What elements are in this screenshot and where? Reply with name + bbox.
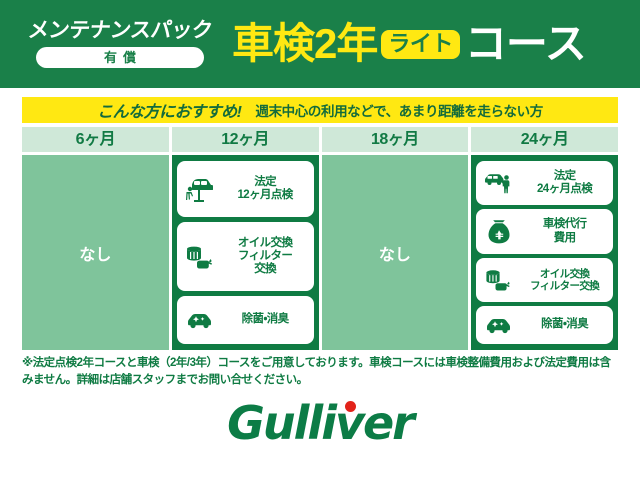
column-18-months: 18ヶ月 なし	[322, 127, 469, 350]
paid-badge: 有償	[36, 47, 204, 68]
service-card-label: 除菌・消臭	[221, 313, 310, 326]
none-label: なし	[379, 241, 411, 265]
column-6-months: 6ヶ月 なし	[22, 127, 169, 350]
service-card-label: 法定 24ヶ月点検	[520, 170, 609, 196]
maintenance-pack-title: メンテナンスパック	[27, 20, 214, 42]
column-header-6: 6ヶ月	[22, 127, 169, 152]
column-header-label: 12ヶ月	[221, 132, 269, 148]
recommend-section: こんな方におすすめ! 週末中心の利用などで、あまり距離を走らない方	[0, 88, 640, 123]
column-header-label: 24ヶ月	[521, 132, 569, 148]
service-card: オイル交換 フィルター交換	[476, 258, 613, 302]
gulliver-logo-text: Gulliver	[227, 396, 413, 450]
service-card-label: オイル交換 フィルター交換	[520, 268, 609, 292]
column-12-months: 12ヶ月	[172, 127, 319, 350]
column-header-24: 24ヶ月	[471, 127, 618, 152]
service-card: 車検代行 費用	[476, 209, 613, 253]
none-label: なし	[79, 241, 111, 265]
maintenance-pack-block: メンテナンスパック 有償	[14, 20, 226, 68]
course-main-label: 車検2年	[232, 23, 377, 65]
course-tail-label: コース	[465, 23, 586, 65]
column-body-24: 法定 24ヶ月点検 車検代行 費用	[471, 155, 618, 350]
car-sparkle-icon	[183, 310, 217, 330]
footnote: ※法定点検2年コースと車検（2年/3年）コースをご用意しております。車検コースに…	[0, 350, 640, 388]
service-card: 除菌・消臭	[177, 296, 314, 344]
brand-logo-area: Gulliver	[0, 388, 640, 458]
service-card-label: 除菌・消臭	[520, 318, 609, 331]
car-lift-inspection-icon	[183, 175, 217, 203]
advertisement-page: メンテナンスパック 有償 車検2年 ライト コース こんな方におすすめ! 週末中…	[0, 0, 640, 480]
column-24-months: 24ヶ月	[471, 127, 618, 350]
recommend-detail: 週末中心の利用などで、あまり距離を走らない方	[255, 100, 542, 120]
column-header-12: 12ヶ月	[172, 127, 319, 152]
recommend-bar: こんな方におすすめ! 週末中心の利用などで、あまり距離を走らない方	[22, 97, 618, 123]
service-card: オイル交換 フィルター 交換	[177, 222, 314, 290]
column-body-12: 法定 12ヶ月点検	[172, 155, 319, 350]
service-card-label: 車検代行 費用	[520, 218, 609, 244]
service-card-label: 法定 12ヶ月点検	[221, 176, 310, 202]
recommend-headline: こんな方におすすめ!	[97, 98, 241, 122]
column-header-label: 6ヶ月	[76, 132, 115, 148]
column-body-6: なし	[22, 155, 169, 350]
coverage-table: 6ヶ月 なし 12ヶ月	[0, 123, 640, 350]
service-card-label: オイル交換 フィルター 交換	[221, 237, 310, 277]
column-header-label: 18ヶ月	[371, 132, 419, 148]
oil-filter-change-icon	[183, 243, 217, 271]
money-bag-yen-icon	[482, 219, 516, 245]
oil-filter-change-icon	[482, 267, 516, 293]
service-card: 法定 12ヶ月点検	[177, 161, 314, 217]
light-course-badge: ライト	[381, 30, 460, 59]
car-sparkle-icon	[482, 315, 516, 335]
paid-badge-label: 有償	[98, 51, 142, 64]
coverage-columns: 6ヶ月 なし 12ヶ月	[22, 127, 618, 350]
light-course-badge-label: ライト	[388, 33, 453, 55]
header-banner: メンテナンスパック 有償 車検2年 ライト コース	[0, 0, 640, 88]
column-body-18: なし	[322, 155, 469, 350]
course-title-block: 車検2年 ライト コース	[232, 23, 640, 65]
gulliver-logo: Gulliver	[227, 400, 413, 446]
service-card: 除菌・消臭	[476, 306, 613, 344]
column-header-18: 18ヶ月	[322, 127, 469, 152]
car-inspection-staff-icon	[482, 172, 516, 194]
service-card: 法定 24ヶ月点検	[476, 161, 613, 205]
